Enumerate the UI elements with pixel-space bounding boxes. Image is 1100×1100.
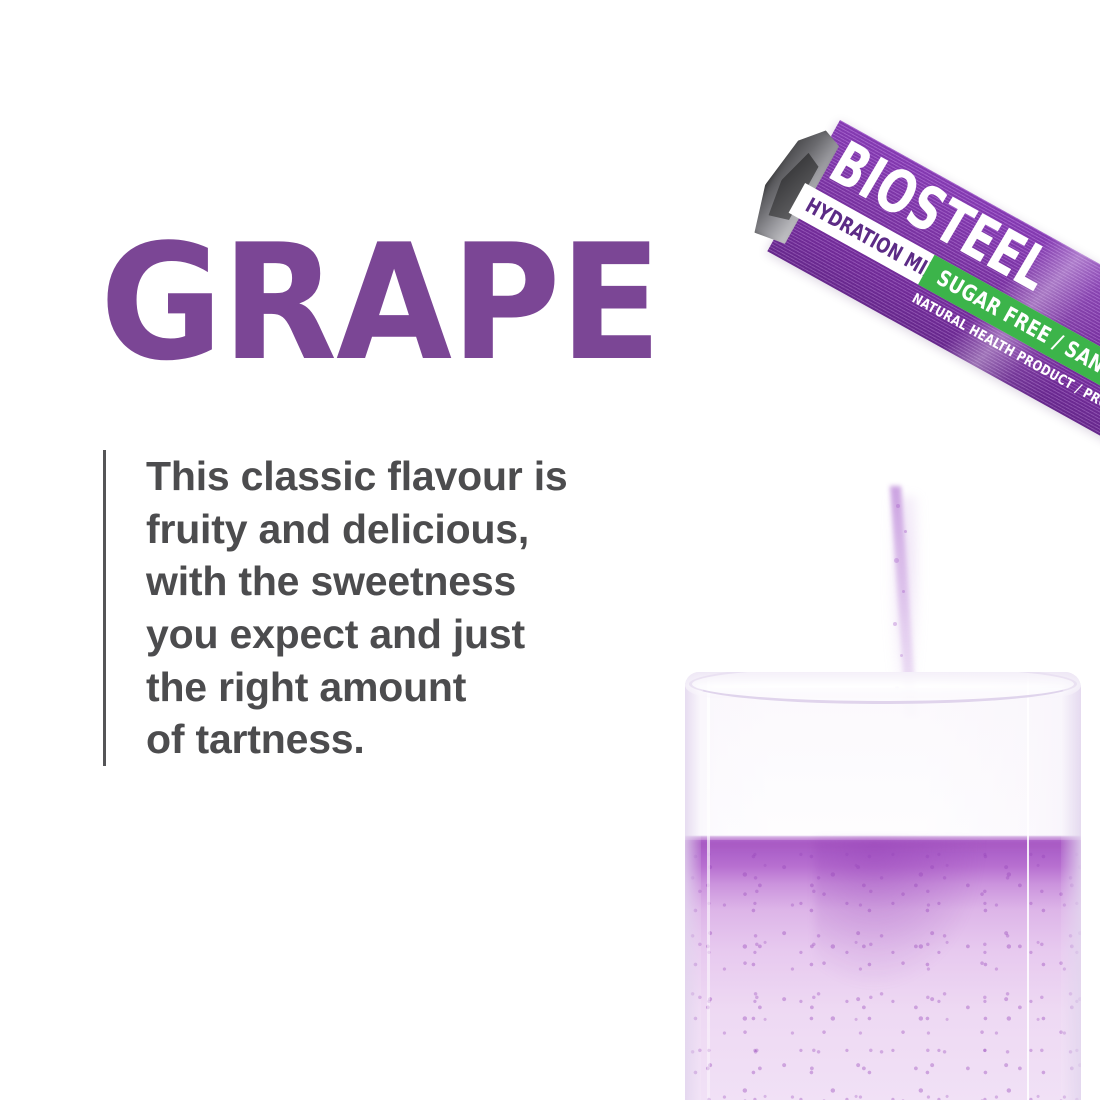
glass-edge-highlight	[707, 672, 710, 1100]
glass-vertical-highlight	[1027, 672, 1029, 1100]
flavour-description: This classic flavour is fruity and delic…	[146, 450, 568, 766]
text-column: GRAPE This classic flavour is fruity and…	[0, 0, 640, 1100]
accent-rule-divider	[103, 450, 106, 766]
description-block: This classic flavour is fruity and delic…	[103, 450, 568, 766]
page-title: GRAPE	[100, 228, 661, 378]
liquid-bubbles	[685, 850, 1081, 1100]
product-sachet: BIOSTEEL HYDRATION MIX · MÉLANGE SUGAR F…	[767, 120, 1100, 455]
glass-left-wall	[685, 672, 701, 1100]
glass-air-gap	[685, 688, 1081, 848]
product-card: GRAPE This classic flavour is fruity and…	[0, 0, 1100, 1100]
drinking-glass	[685, 672, 1081, 1100]
product-scene: BIOSTEEL HYDRATION MIX · MÉLANGE SUGAR F…	[600, 0, 1100, 1100]
glass-right-wall	[1061, 672, 1081, 1100]
